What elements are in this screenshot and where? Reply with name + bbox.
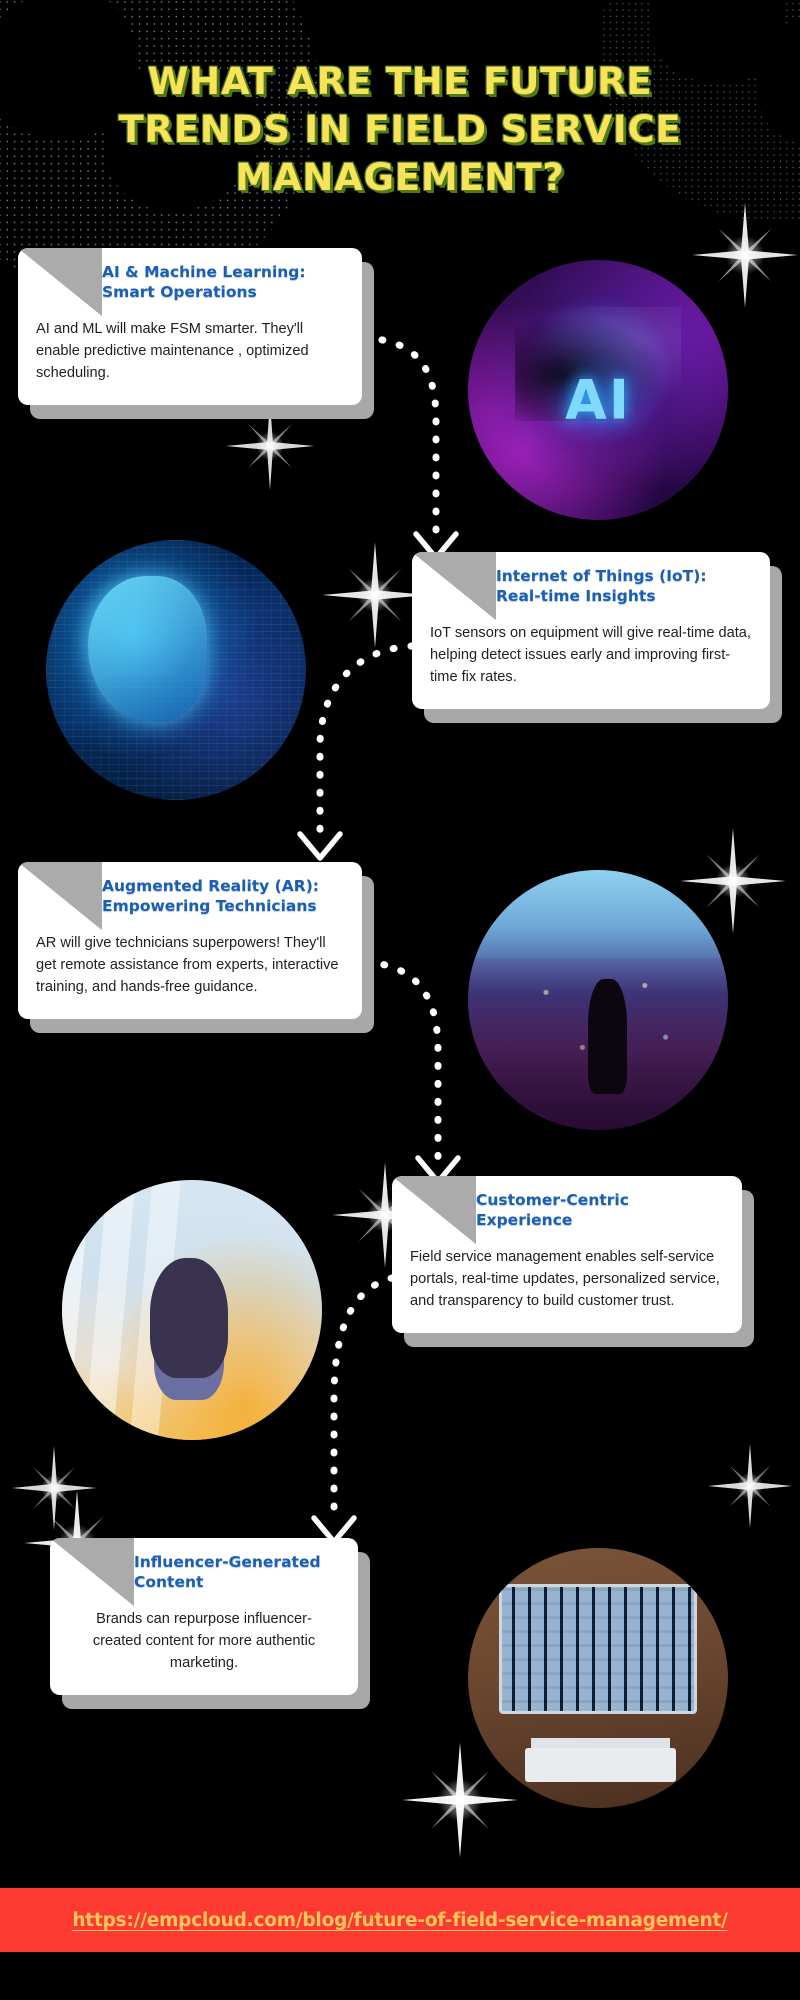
photo-city-window-art [468,870,728,1130]
connector-ai-to-iot [364,338,456,558]
card-title: Influencer-Generated Content [50,1543,358,1599]
photo-video-meeting [468,1548,728,1808]
card-body: Internet of Things (IoT): Real-time Insi… [412,552,770,709]
photo-video-meeting-art [468,1548,728,1808]
card-body: Customer-Centric Experience Field servic… [392,1176,742,1333]
card-title: Customer-Centric Experience [392,1181,742,1237]
card-title: Augmented Reality (AR): Empowering Techn… [18,867,362,923]
card-body: AI & Machine Learning: Smart Operations … [18,248,362,405]
card-title: AI & Machine Learning: Smart Operations [18,253,362,309]
card-influencer-generated-content[interactable]: Influencer-Generated Content Brands can … [50,1538,358,1695]
photo-woman-tablet-art [62,1180,322,1440]
page-title: WHAT ARE THE FUTURE TRENDS IN FIELD SERV… [0,58,800,202]
photo-ai-operations-art [468,260,728,520]
card-header: Augmented Reality (AR): Empowering Techn… [18,862,362,928]
card-augmented-reality[interactable]: Augmented Reality (AR): Empowering Techn… [18,862,362,1019]
card-title: Internet of Things (IoT): Real-time Insi… [412,557,770,613]
sparkle-icon [6,1440,102,1536]
footer-url-link[interactable]: https://empcloud.com/blog/future-of-fiel… [72,1910,727,1931]
sparkle-icon [702,1438,798,1534]
card-body-text: Brands can repurpose influencer-created … [50,1604,358,1695]
card-header: Customer-Centric Experience [392,1176,742,1242]
card-body-text: IoT sensors on equipment will give real-… [412,618,770,709]
card-customer-centric-experience[interactable]: Customer-Centric Experience Field servic… [392,1176,742,1333]
footer-url-bar: https://empcloud.com/blog/future-of-fiel… [0,1888,800,1952]
connector-customer-to-influencer [314,1278,392,1542]
card-body: Influencer-Generated Content Brands can … [50,1538,358,1695]
connector-ar-to-customer [366,962,458,1182]
photo-woman-tablet [62,1180,322,1440]
card-body-text: AR will give technicians superpowers! Th… [18,928,362,1019]
card-ai-machine-learning[interactable]: AI & Machine Learning: Smart Operations … [18,248,362,405]
photo-robot-head-art [46,540,306,800]
card-header: AI & Machine Learning: Smart Operations [18,248,362,314]
card-header: Influencer-Generated Content [50,1538,358,1604]
card-body-text: AI and ML will make FSM smarter. They'll… [18,314,362,405]
photo-city-window [468,870,728,1130]
photo-robot-head [46,540,306,800]
card-body-text: Field service management enables self-se… [392,1242,742,1333]
photo-ai-operations [468,260,728,520]
card-header: Internet of Things (IoT): Real-time Insi… [412,552,770,618]
card-internet-of-things[interactable]: Internet of Things (IoT): Real-time Insi… [412,552,770,709]
page-title-container: WHAT ARE THE FUTURE TRENDS IN FIELD SERV… [0,58,800,202]
connector-iot-to-ar [300,646,412,858]
infographic-canvas: WHAT ARE THE FUTURE TRENDS IN FIELD SERV… [0,0,800,2000]
card-body: Augmented Reality (AR): Empowering Techn… [18,862,362,1019]
